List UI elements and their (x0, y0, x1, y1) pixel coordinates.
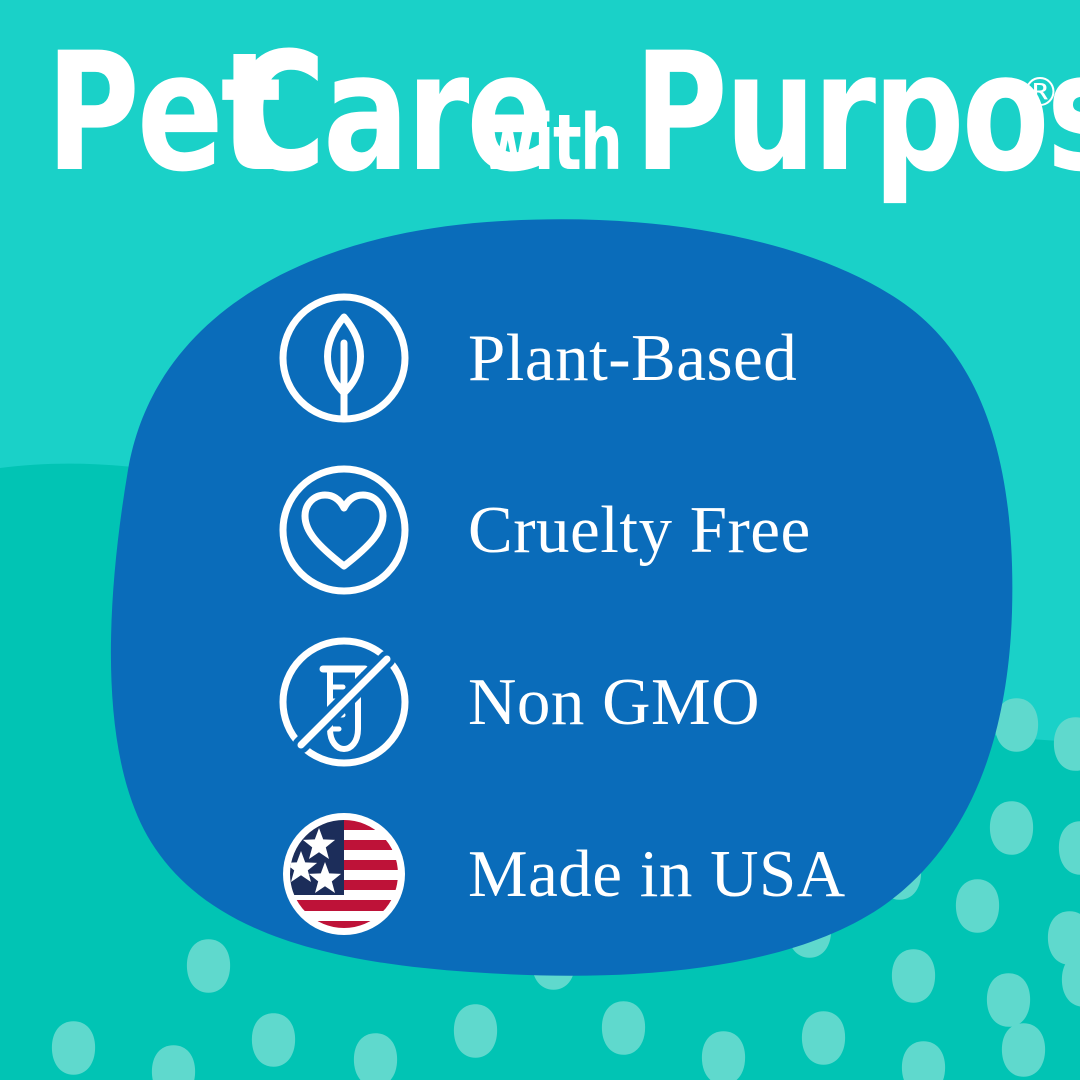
heart-in-circle-icon (268, 454, 420, 606)
feature-row-cruelty-free: Cruelty Free (268, 444, 968, 616)
feature-label-plant-based: Plant-Based (468, 325, 797, 392)
leaf-in-circle-icon (268, 282, 420, 434)
pet-care-with-purpose-graphic: Pet Care with Purpose ® Plant-Based (0, 0, 1080, 1080)
feature-row-made-in-usa: Made in USA (268, 788, 968, 960)
no-test-tube-icon (268, 626, 420, 778)
feature-label-cruelty-free: Cruelty Free (468, 497, 811, 564)
feature-list: Plant-Based Cruelty Free (268, 272, 968, 960)
usa-flag-badge-icon (268, 798, 420, 950)
feature-label-non-gmo: Non GMO (468, 669, 760, 736)
feature-row-plant-based: Plant-Based (268, 272, 968, 444)
feature-row-non-gmo: Non GMO (268, 616, 968, 788)
feature-label-made-in-usa: Made in USA (468, 841, 846, 908)
